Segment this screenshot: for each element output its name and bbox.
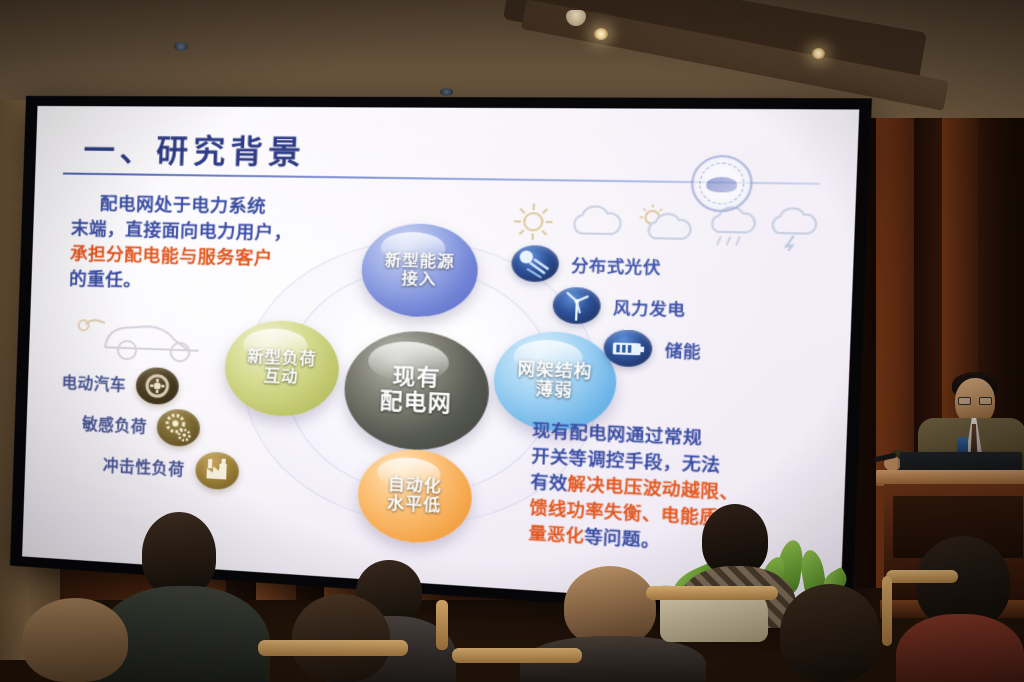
node-top-label-1: 新型能源	[384, 251, 455, 271]
left-icon-row-ev: 电动汽车	[61, 364, 180, 405]
right-icon-row-solar: 分布式光伏	[511, 245, 662, 285]
audience-body-red-scarf	[896, 614, 1024, 682]
rain-icon	[703, 203, 764, 250]
chair-back-1	[258, 640, 408, 656]
left-icon-row-impact: 冲击性负荷	[102, 446, 239, 490]
node-top-label-2: 接入	[401, 270, 437, 289]
chair-back-3	[646, 586, 778, 600]
node-bottom-label-2: 水平低	[387, 495, 442, 517]
left-para-line4: 的重任。	[69, 268, 142, 290]
sun-icon	[508, 200, 559, 244]
lightning-cloud-icon	[764, 204, 821, 252]
left-para-line1: 配电网处于电力系统	[100, 193, 267, 216]
cloud-icon	[566, 201, 627, 245]
right-para-line5-highlight: 量恶化	[528, 525, 584, 547]
node-right-label-2: 薄弱	[535, 381, 573, 402]
right-icon-row-wind: 风力发电	[552, 287, 686, 328]
recessed-downlight-1	[174, 42, 188, 51]
audience-head-bald-center	[564, 566, 656, 646]
node-right-label-1: 网架结构	[517, 361, 592, 383]
right-para-line3-highlight: 解决电压波动越限、	[567, 475, 739, 503]
chair-post-1	[436, 600, 448, 650]
center-label-2: 配电网	[379, 389, 452, 418]
chair-post-2	[882, 576, 892, 646]
ev-label: 电动汽车	[61, 371, 126, 396]
right-para-line1: 现有配电网通过常规	[532, 422, 703, 448]
wheel-icon	[136, 367, 180, 405]
audience-head-right	[780, 584, 880, 682]
audience-head-far-left	[22, 598, 128, 682]
center-label-1: 现有	[392, 364, 441, 392]
emblem-core	[706, 177, 737, 193]
right-icon-row-storage: 储能	[603, 329, 702, 369]
right-para-line3a: 有效	[530, 474, 568, 494]
wind-turbine-icon	[552, 287, 601, 325]
wind-label: 风力发电	[613, 295, 686, 320]
node-left-label-2: 互动	[263, 368, 298, 388]
battery-icon	[603, 329, 653, 368]
solar-label: 分布式光伏	[571, 253, 662, 278]
gears-icon	[157, 408, 201, 447]
impact-load-label: 冲击性负荷	[102, 454, 185, 481]
right-para-line2: 开关等调控手段，无法	[531, 448, 721, 476]
solar-panel-icon	[511, 245, 560, 283]
factory-icon	[194, 451, 239, 490]
conference-hall-scene: 一、研究背景 配电网处于电力系统 末端，直接面向电力用户， 承担分配电能与服务客…	[0, 0, 1024, 682]
electric-car-outline-icon	[74, 306, 216, 368]
weather-icon-strip	[508, 200, 814, 249]
storage-label: 储能	[665, 338, 702, 362]
partly-cloudy-icon	[633, 202, 700, 247]
recessed-downlight-2	[440, 88, 453, 96]
left-para-line3-highlight: 承担分配电能与服务客户	[70, 243, 273, 268]
left-icon-row-sensitive: 敏感负荷	[82, 405, 201, 447]
right-para-line5b: 等问题。	[584, 528, 660, 551]
sensitive-load-label: 敏感负荷	[82, 412, 148, 437]
chair-back-2	[452, 648, 582, 663]
lit-spotlight-2	[812, 48, 825, 59]
slide-title: 一、研究背景	[83, 124, 307, 172]
node-left-label-1: 新型负荷	[247, 348, 317, 369]
audience-head-row2-left	[292, 594, 390, 682]
audience-head-center-left	[142, 512, 216, 596]
lit-spotlight-1	[594, 28, 608, 40]
eyeglasses-icon	[958, 397, 992, 405]
right-para-line4-highlight: 馈线功率失衡、电能质	[529, 499, 719, 528]
chair-back-4	[886, 570, 958, 583]
left-para-line2: 末端，直接面向电力用户，	[71, 218, 293, 243]
